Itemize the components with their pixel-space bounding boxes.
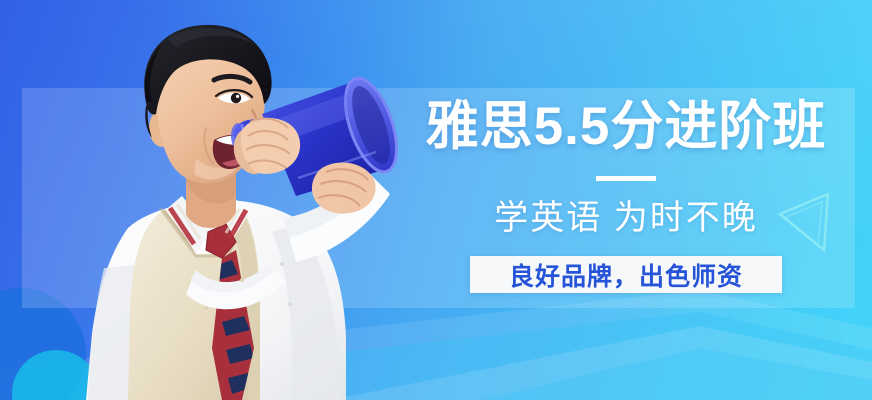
portrait-man-with-megaphone <box>46 18 406 400</box>
banner-headline: 雅思5.5分进阶班 <box>408 96 844 158</box>
right-hand <box>312 162 376 213</box>
feature-badge-label: 良好品牌，出色师资 <box>509 257 743 293</box>
banner-text-block: 雅思5.5分进阶班 学英语 为时不晚 良好品牌，出色师资 <box>408 96 844 293</box>
headline-divider <box>596 176 656 181</box>
promo-banner: 雅思5.5分进阶班 学英语 为时不晚 良好品牌，出色师资 <box>0 0 872 400</box>
feature-badge: 良好品牌，出色师资 <box>470 256 782 293</box>
banner-subheadline: 学英语 为时不晚 <box>408 197 844 239</box>
